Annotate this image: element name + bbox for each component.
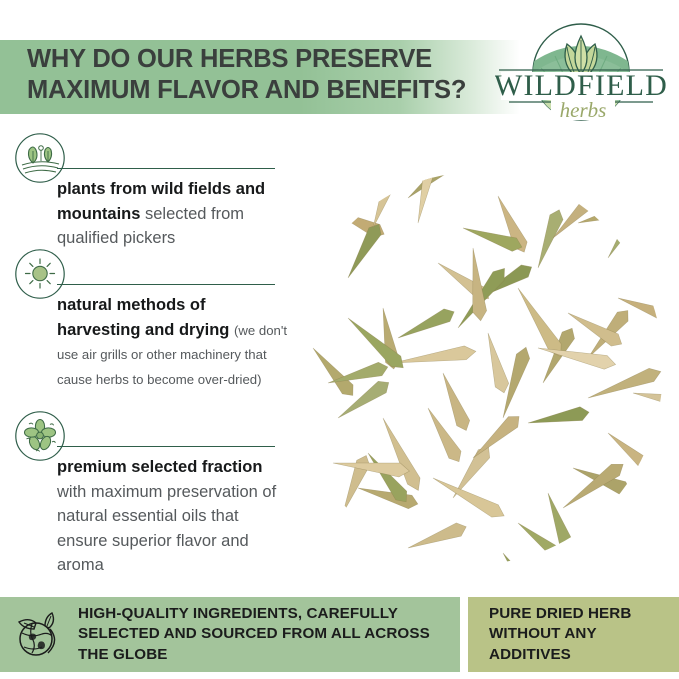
feature-regular-text: with maximum preservation of natural ess…: [57, 483, 276, 575]
globe-leaves-icon: [12, 609, 64, 661]
feature-divider: [57, 168, 275, 169]
feature-divider: [57, 446, 275, 447]
banner-pure-dried-herb: PURE DRIED HERB WITHOUT ANY ADDITIVES: [468, 597, 679, 672]
brand-logo: WILDFIELD herbs: [495, 16, 667, 128]
infographic-page: WHY DO OUR HERBS PRESERVE MAXIMUM FLAVOR…: [0, 0, 679, 679]
dried-herb-pile-photo: [288, 168, 666, 576]
banner-text: HIGH-QUALITY INGREDIENTS, CAREFULLY SELE…: [78, 604, 460, 666]
feature-divider: [57, 284, 275, 285]
feature-bold-text: premium selected fraction: [57, 458, 262, 476]
page-title: WHY DO OUR HERBS PRESERVE MAXIMUM FLAVOR…: [27, 44, 477, 106]
logo-script-word: herbs: [560, 98, 607, 122]
feature-text: natural methods of harvesting and drying…: [57, 293, 292, 391]
banner-text: PURE DRIED HERB WITHOUT ANY ADDITIVES: [489, 604, 679, 666]
feature-text: premium selected fraction with maximum p…: [57, 455, 292, 578]
banner-high-quality-ingredients: HIGH-QUALITY INGREDIENTS, CAREFULLY SELE…: [0, 597, 460, 672]
feature-bold-text: natural methods of harvesting and drying: [57, 296, 229, 339]
feature-text: plants from wild fields and mountains se…: [57, 177, 292, 251]
